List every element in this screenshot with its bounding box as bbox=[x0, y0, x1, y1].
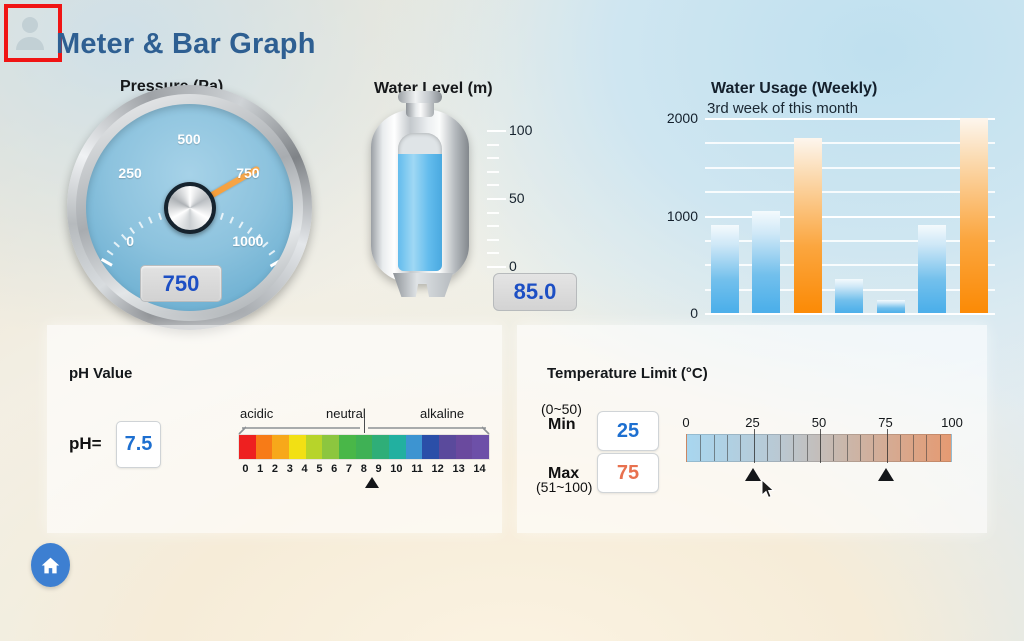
tank-water-fill bbox=[398, 154, 442, 271]
chart-y-axis-label: 0 bbox=[690, 305, 698, 321]
temperature-major-tick bbox=[887, 429, 888, 463]
chart-plot-area: 010002000 bbox=[705, 118, 995, 313]
tank-scale-minor-tick bbox=[487, 157, 499, 159]
ph-swatch bbox=[372, 435, 389, 459]
water-usage-title: Water Usage (Weekly) bbox=[711, 80, 877, 98]
pressure-readout: 750 bbox=[140, 265, 222, 302]
chart-bar bbox=[960, 118, 988, 313]
ph-label: pH= bbox=[69, 434, 102, 454]
chart-gridline bbox=[705, 240, 995, 242]
ph-scale-number: 11 bbox=[407, 463, 427, 475]
page-title: Meter & Bar Graph bbox=[56, 28, 316, 61]
ph-swatch bbox=[322, 435, 339, 459]
ph-zone-alkaline: alkaline bbox=[420, 406, 464, 421]
ph-swatch bbox=[239, 435, 256, 459]
ph-swatch bbox=[456, 435, 473, 459]
ph-swatch bbox=[339, 435, 356, 459]
temperature-minor-tick bbox=[767, 435, 768, 461]
temperature-marker[interactable] bbox=[878, 468, 894, 481]
gauge-tick-label: 750 bbox=[236, 165, 259, 181]
ph-swatch bbox=[306, 435, 323, 459]
tank-scale-major-tick bbox=[487, 130, 506, 132]
temperature-minor-tick bbox=[780, 435, 781, 461]
ph-scale-number: 9 bbox=[371, 463, 386, 475]
temperature-minor-tick bbox=[926, 435, 927, 461]
ph-value-field[interactable]: 7.5 bbox=[116, 421, 161, 468]
ph-swatch bbox=[422, 435, 439, 459]
temperature-scale-label: 0 bbox=[682, 415, 689, 430]
ph-zone-acidic: acidic bbox=[240, 406, 273, 421]
temperature-min-range: (0~50) bbox=[541, 401, 582, 417]
ph-scale-number: 7 bbox=[342, 463, 357, 475]
home-icon bbox=[40, 555, 61, 576]
chart-bar bbox=[918, 225, 946, 313]
chart-y-axis-label: 2000 bbox=[667, 110, 698, 126]
ph-scale-number: 6 bbox=[327, 463, 342, 475]
ph-scale-number: 4 bbox=[297, 463, 312, 475]
chart-bar bbox=[794, 138, 822, 314]
ph-marker[interactable] bbox=[365, 477, 379, 488]
chart-gridline bbox=[705, 264, 995, 266]
temperature-minor-tick bbox=[833, 435, 834, 461]
person-icon bbox=[12, 14, 48, 50]
gauge-tick-label: 1000 bbox=[232, 233, 263, 249]
tank-scale-label: 100 bbox=[509, 122, 532, 138]
temperature-range-slider[interactable] bbox=[686, 434, 952, 462]
temperature-minor-tick bbox=[793, 435, 794, 461]
temperature-max-range: (51~100) bbox=[536, 479, 592, 495]
ph-scale-number: 5 bbox=[312, 463, 327, 475]
chart-bar bbox=[752, 211, 780, 313]
ph-color-swatches bbox=[238, 434, 490, 460]
ph-scale-number: 8 bbox=[356, 463, 371, 475]
ph-swatch bbox=[289, 435, 306, 459]
chart-gridline bbox=[705, 191, 995, 193]
tank-scale-minor-tick bbox=[487, 225, 499, 227]
temperature-minor-tick bbox=[940, 435, 941, 461]
temperature-scale-label: 50 bbox=[812, 415, 826, 430]
ph-scale-number: 12 bbox=[427, 463, 448, 475]
gauge-tick-label: 0 bbox=[126, 233, 134, 249]
ph-scale-number: 2 bbox=[268, 463, 283, 475]
ph-swatch bbox=[356, 435, 373, 459]
ph-neutral-tick bbox=[364, 418, 365, 433]
temperature-panel-title: Temperature Limit (°C) bbox=[547, 365, 708, 382]
ph-zone-neutral: neutral bbox=[326, 406, 366, 421]
ph-swatch bbox=[439, 435, 456, 459]
temperature-major-tick bbox=[820, 429, 821, 463]
ph-swatch bbox=[272, 435, 289, 459]
tank-scale-minor-tick bbox=[487, 144, 499, 146]
ph-scale: acidic neutral alkaline 0123456789101112… bbox=[238, 406, 490, 486]
temperature-minor-tick bbox=[913, 435, 914, 461]
tank-scale-major-tick bbox=[487, 198, 506, 200]
gauge-tick-label: 500 bbox=[177, 131, 200, 147]
chart-gridline bbox=[705, 167, 995, 169]
tank-scale-label: 0 bbox=[509, 258, 517, 274]
tank-scale-major-tick bbox=[487, 266, 506, 268]
temperature-minor-tick bbox=[714, 435, 715, 461]
ph-scale-number: 14 bbox=[469, 463, 490, 475]
mouse-cursor bbox=[761, 479, 775, 499]
temperature-minor-tick bbox=[900, 435, 901, 461]
temperature-scale-label: 25 bbox=[745, 415, 759, 430]
temperature-major-tick bbox=[754, 429, 755, 463]
temperature-scale-label: 100 bbox=[941, 415, 963, 430]
tank-scale-minor-tick bbox=[487, 239, 499, 241]
ph-swatch bbox=[472, 435, 489, 459]
tank-sight-glass bbox=[398, 133, 442, 271]
ph-panel-title: pH Value bbox=[69, 365, 132, 382]
tank-scale-minor-tick bbox=[487, 184, 499, 186]
chart-bar bbox=[711, 225, 739, 313]
ph-alkaline-arrow bbox=[368, 425, 490, 433]
temperature-minor-tick bbox=[727, 435, 728, 461]
temperature-min-field[interactable]: 25 bbox=[597, 411, 659, 451]
chart-y-axis-label: 1000 bbox=[667, 208, 698, 224]
ph-scale-number: 0 bbox=[238, 463, 253, 475]
ph-scale-number: 1 bbox=[253, 463, 268, 475]
chart-gridline bbox=[705, 118, 995, 120]
tank-cap bbox=[398, 91, 442, 103]
gauge-minor-tick bbox=[191, 310, 294, 311]
home-button[interactable] bbox=[31, 543, 70, 587]
temperature-scale-label: 75 bbox=[878, 415, 892, 430]
chart-gridline bbox=[705, 216, 995, 218]
temperature-minor-tick bbox=[860, 435, 861, 461]
chart-gridline bbox=[705, 313, 995, 315]
temperature-minor-tick bbox=[807, 435, 808, 461]
ph-scale-number: 13 bbox=[448, 463, 469, 475]
temperature-minor-tick bbox=[700, 435, 701, 461]
tank-scale-label: 50 bbox=[509, 190, 525, 206]
ph-swatch bbox=[406, 435, 423, 459]
ph-scale-number: 10 bbox=[386, 463, 407, 475]
temperature-marker[interactable] bbox=[745, 468, 761, 481]
water-usage-subtitle: 3rd week of this month bbox=[707, 100, 858, 117]
ph-scale-numbers: 01234567891011121314 bbox=[238, 463, 490, 475]
temperature-minor-tick bbox=[847, 435, 848, 461]
gauge-tick-label: 250 bbox=[118, 165, 141, 181]
water-usage-chart: 010002000 bbox=[655, 118, 995, 313]
temperature-minor-tick bbox=[873, 435, 874, 461]
water-tank bbox=[365, 95, 475, 300]
water-level-readout: 85.0 bbox=[493, 273, 577, 311]
chart-bar bbox=[835, 279, 863, 313]
tank-scale-minor-tick bbox=[487, 212, 499, 214]
ph-scale-number: 3 bbox=[282, 463, 297, 475]
chart-gridline bbox=[705, 142, 995, 144]
temperature-min-label: Min bbox=[548, 416, 576, 434]
ph-acidic-arrow bbox=[238, 425, 360, 433]
tank-scale-minor-tick bbox=[487, 171, 499, 173]
chart-bar bbox=[877, 300, 905, 313]
ph-swatch bbox=[256, 435, 273, 459]
tank-scale-minor-tick bbox=[487, 252, 499, 254]
temperature-max-field[interactable]: 75 bbox=[597, 453, 659, 493]
tank-foot bbox=[393, 273, 453, 297]
temperature-minor-tick bbox=[740, 435, 741, 461]
ph-swatch bbox=[389, 435, 406, 459]
water-level-scale: 100500 bbox=[487, 130, 543, 270]
gauge-hub bbox=[164, 182, 216, 234]
